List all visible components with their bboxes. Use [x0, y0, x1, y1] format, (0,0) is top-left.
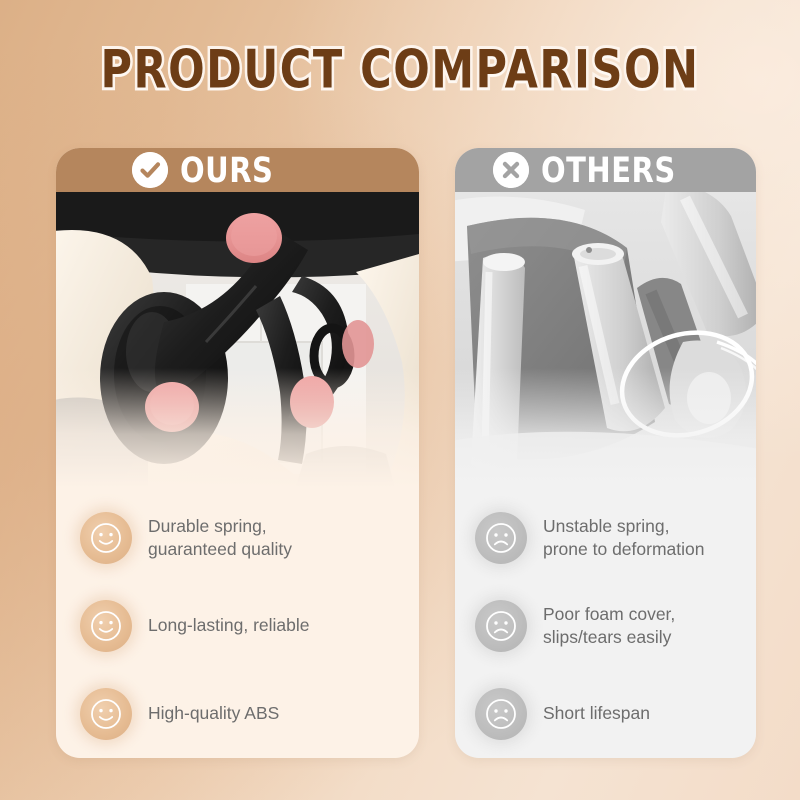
- card-others[interactable]: OTHERS: [455, 148, 756, 758]
- card-others-features: Unstable spring, prone to deformation Po…: [455, 488, 756, 758]
- check-circle-icon: [132, 152, 168, 188]
- feature-text: High-quality ABS: [148, 702, 279, 725]
- page-title-wrap: PRODUCT COMPARISON: [0, 40, 800, 90]
- feature-row: High-quality ABS: [56, 670, 419, 758]
- feature-row: Poor foam cover, slips/tears easily: [455, 582, 756, 670]
- sad-face-icon: [475, 688, 527, 740]
- card-ours-label: OURS: [180, 150, 273, 191]
- smiley-face-icon: [80, 600, 132, 652]
- card-ours-photo: [56, 192, 419, 488]
- others-photo-fade: [455, 368, 756, 488]
- feature-text: Durable spring, guaranteed quality: [148, 515, 292, 561]
- sad-face-icon: [475, 600, 527, 652]
- ours-photo-fade: [56, 368, 419, 488]
- feature-row: Short lifespan: [455, 670, 756, 758]
- card-others-label: OTHERS: [541, 150, 676, 191]
- card-others-photo: [455, 192, 756, 488]
- card-ours-features: Durable spring, guaranteed quality Long-…: [56, 488, 419, 758]
- feature-text: Poor foam cover, slips/tears easily: [543, 603, 675, 649]
- feature-text: Short lifespan: [543, 702, 650, 725]
- cross-circle-icon: [493, 152, 529, 188]
- comparison-cards: OURS: [56, 148, 756, 758]
- comparison-infographic: PRODUCT COMPARISON OURS: [0, 0, 800, 800]
- page-title: PRODUCT COMPARISON: [100, 40, 699, 101]
- card-others-header: OTHERS: [455, 148, 756, 192]
- sad-face-icon: [475, 512, 527, 564]
- feature-row: Unstable spring, prone to deformation: [455, 494, 756, 582]
- card-ours[interactable]: OURS: [56, 148, 419, 758]
- smiley-face-icon: [80, 688, 132, 740]
- feature-text: Unstable spring, prone to deformation: [543, 515, 705, 561]
- feature-row: Long-lasting, reliable: [56, 582, 419, 670]
- smiley-face-icon: [80, 512, 132, 564]
- feature-row: Durable spring, guaranteed quality: [56, 494, 419, 582]
- feature-text: Long-lasting, reliable: [148, 614, 310, 637]
- card-ours-header: OURS: [56, 148, 419, 192]
